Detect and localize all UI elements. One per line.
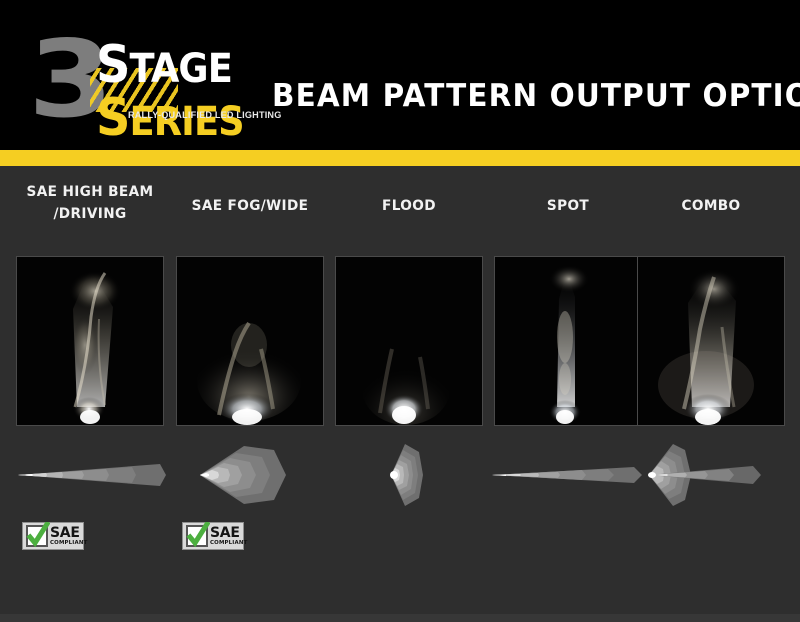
beam-column-spot: SPOT (494, 166, 642, 614)
logo-stage-rest: TAGE (130, 46, 232, 92)
beam-column-flood: FLOOD (335, 166, 483, 614)
sae-badge-subtitle: COMPLIANT (210, 541, 247, 546)
logo-series-rest: ERIES (130, 99, 244, 145)
sae-badge-title: SAE (210, 526, 247, 540)
beam-photo-spot (494, 256, 642, 426)
beam-diagram-combo (631, 438, 791, 512)
beam-photo-combo (637, 256, 785, 426)
sae-compliant-badge: SAE COMPLIANT (22, 522, 84, 550)
yellow-divider-bar (0, 150, 800, 166)
column-label-spot: SPOT (493, 196, 643, 218)
logo-word-stage: STAGE (96, 42, 252, 89)
beam-diagram-sae-fog-wide (170, 438, 330, 512)
header-bar: 3 STAGE SERIES RALLY-QUALIFIED LED LIGHT… (0, 0, 800, 150)
bottom-edge-strip (0, 614, 800, 622)
beam-photo-flood (335, 256, 483, 426)
beam-diagram-spot (488, 438, 648, 512)
column-label-sae-high-beam-driving: SAE HIGH BEAM /DRIVING (15, 182, 165, 226)
column-label-sae-fog-wide: SAE FOG/WIDE (175, 196, 325, 218)
beam-column-sae-high-beam-driving: SAE HIGH BEAM /DRIVING (16, 166, 164, 614)
logo-tagline: RALLY-QUALIFIED LED LIGHTING (128, 110, 281, 121)
sae-compliant-badge: SAE COMPLIANT (182, 522, 244, 550)
beam-diagram-flood (329, 438, 489, 512)
beam-photo-sae-high-beam-driving (16, 256, 164, 426)
sae-checkbox-icon (26, 525, 48, 547)
logo-stage-capital: S (96, 35, 130, 95)
stage-series-logo: 3 STAGE SERIES RALLY-QUALIFIED LED LIGHT… (28, 26, 258, 136)
beam-diagram-sae-high-beam-driving (10, 438, 170, 512)
beam-photo-sae-fog-wide (176, 256, 324, 426)
beam-column-combo: COMBO (637, 166, 785, 614)
logo-wordmark: STAGE SERIES (96, 42, 266, 142)
page-title: BEAM PATTERN OUTPUT OPTIONS (272, 78, 800, 114)
beam-pattern-infographic: 3 STAGE SERIES RALLY-QUALIFIED LED LIGHT… (0, 0, 800, 622)
column-label-flood: FLOOD (334, 196, 484, 218)
sae-badge-title: SAE (50, 526, 87, 540)
sae-badge-subtitle: COMPLIANT (50, 541, 87, 546)
column-label-combo: COMBO (636, 196, 786, 218)
sae-checkbox-icon (186, 525, 208, 547)
beam-column-sae-fog-wide: SAE FOG/WIDE (176, 166, 324, 614)
beam-columns-container: SAE HIGH BEAM /DRIVING (0, 166, 800, 614)
logo-series-capital: S (96, 88, 130, 148)
